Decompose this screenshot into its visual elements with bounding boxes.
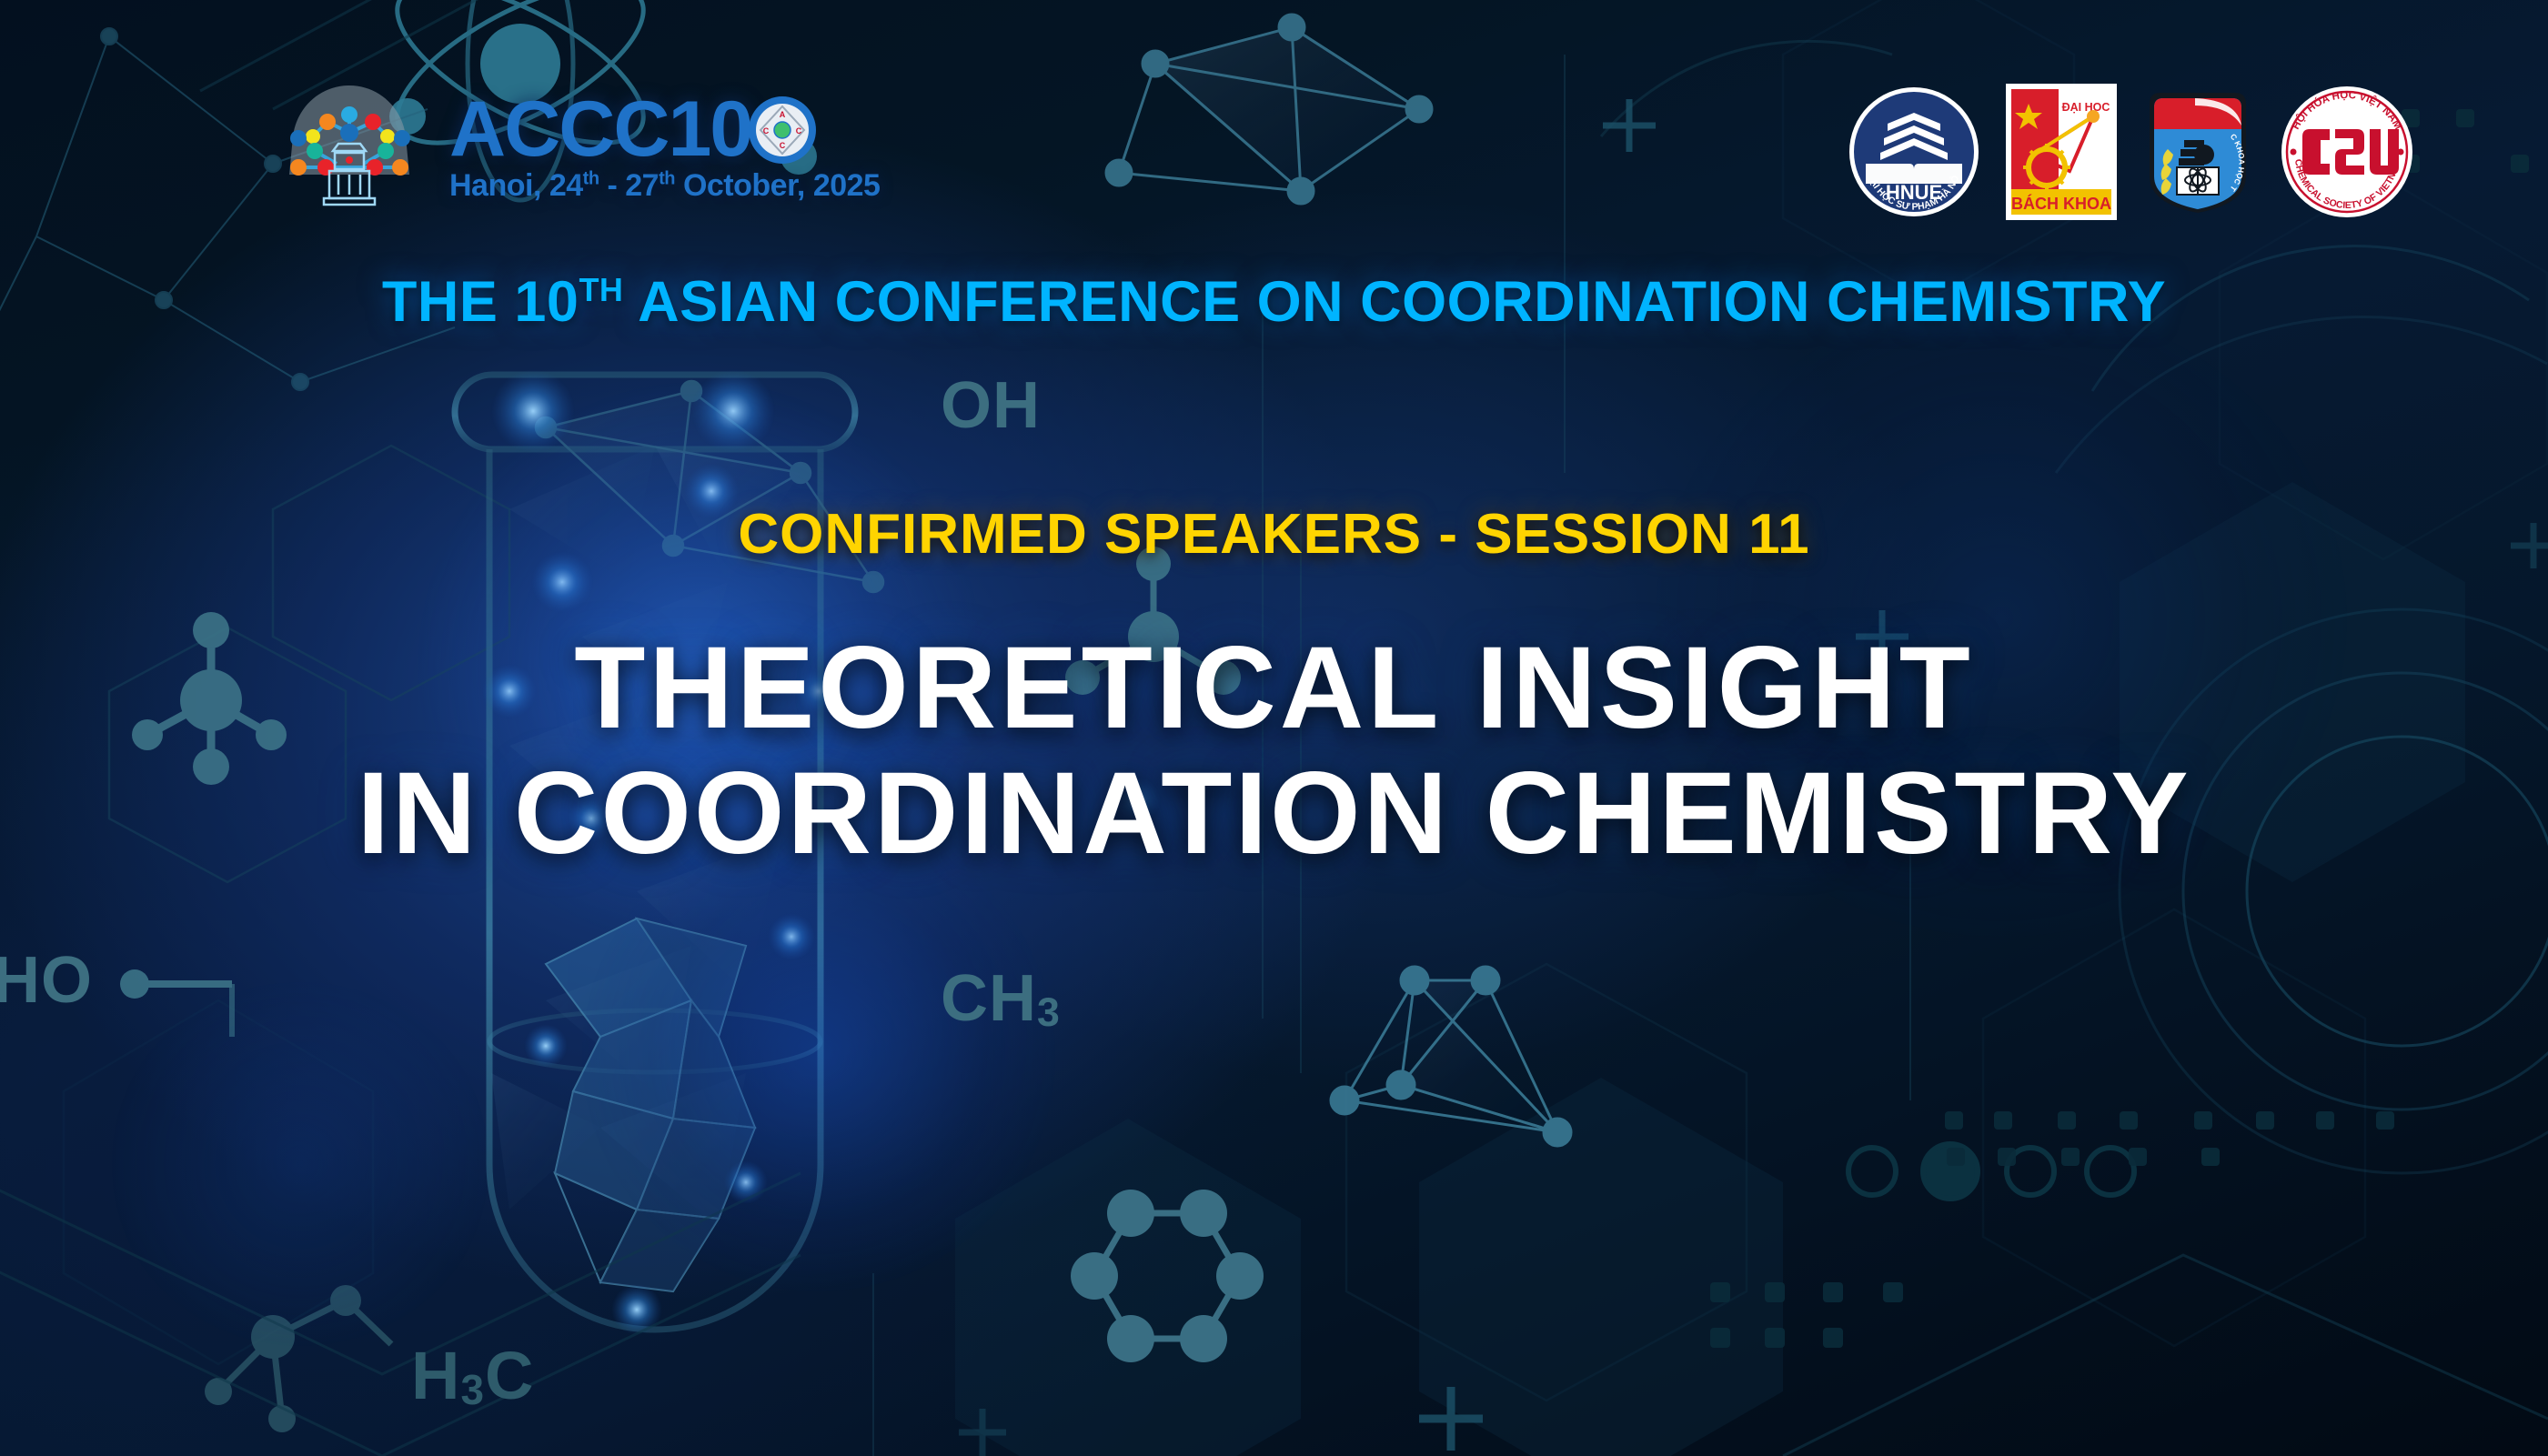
- bach-khoa-line2: BÁCH KHOA: [2011, 194, 2111, 213]
- formula-h3c: H3C: [411, 1337, 534, 1414]
- svg-text:A: A: [780, 110, 786, 119]
- hnue-open-book-logo: HNUE ĐẠI HỌC SƯ PHẠM HÀ NỘI: [1846, 84, 1982, 220]
- accc10-circle-badge: A C C C: [746, 94, 819, 166]
- title-line-1: THEORETICAL INSIGHT: [0, 626, 2548, 751]
- acc-hanoi-molecule-emblem: [273, 80, 426, 216]
- conference-headline: THE 10TH ASIAN CONFERENCE ON COORDINATIO…: [0, 269, 2548, 335]
- title-line-2: IN COORDINATION CHEMISTRY: [0, 751, 2548, 877]
- formula-oh: OH: [941, 368, 1041, 443]
- bach-khoa-line1: ĐẠI HỌC: [2062, 101, 2110, 114]
- accc-wordmark: ACCC: [449, 93, 668, 167]
- accc10-logo-lockup: ACCC 10 A C C C Hanoi, 24th: [273, 80, 880, 216]
- page-title: THEORETICAL INSIGHT IN COORDINATION CHEM…: [0, 626, 2548, 877]
- svg-text:C: C: [780, 141, 786, 150]
- formula-ho: HO: [0, 943, 93, 1018]
- formula-ch3: CH3: [941, 961, 1061, 1036]
- conference-date: Hanoi, 24th - 27th October, 2025: [449, 168, 880, 204]
- conference-banner: ACCC 10 A C C C Hanoi, 24th: [0, 0, 2548, 1456]
- hust-bach-khoa-logo: ĐẠI HỌC BÁCH KHOA: [2006, 84, 2117, 220]
- session-label: CONFIRMED SPEAKERS - SESSION 11: [0, 502, 2548, 567]
- accc-edition-number: 10: [668, 93, 751, 167]
- partner-logos: HNUE ĐẠI HỌC SƯ PHẠM HÀ NỘI ĐẠI HỌC: [1846, 84, 2415, 220]
- svg-text:C: C: [796, 126, 802, 136]
- svg-text:C: C: [763, 126, 770, 136]
- chemical-society-of-vietnam-seal: HỘI HÓA HỌC VIỆT NAM CHEMICAL SOCIETY OF…: [2279, 84, 2415, 220]
- vnu-university-of-science-shield: ĐẠI HỌC KHOA HỌC TỰ NHIÊN: [2140, 84, 2255, 220]
